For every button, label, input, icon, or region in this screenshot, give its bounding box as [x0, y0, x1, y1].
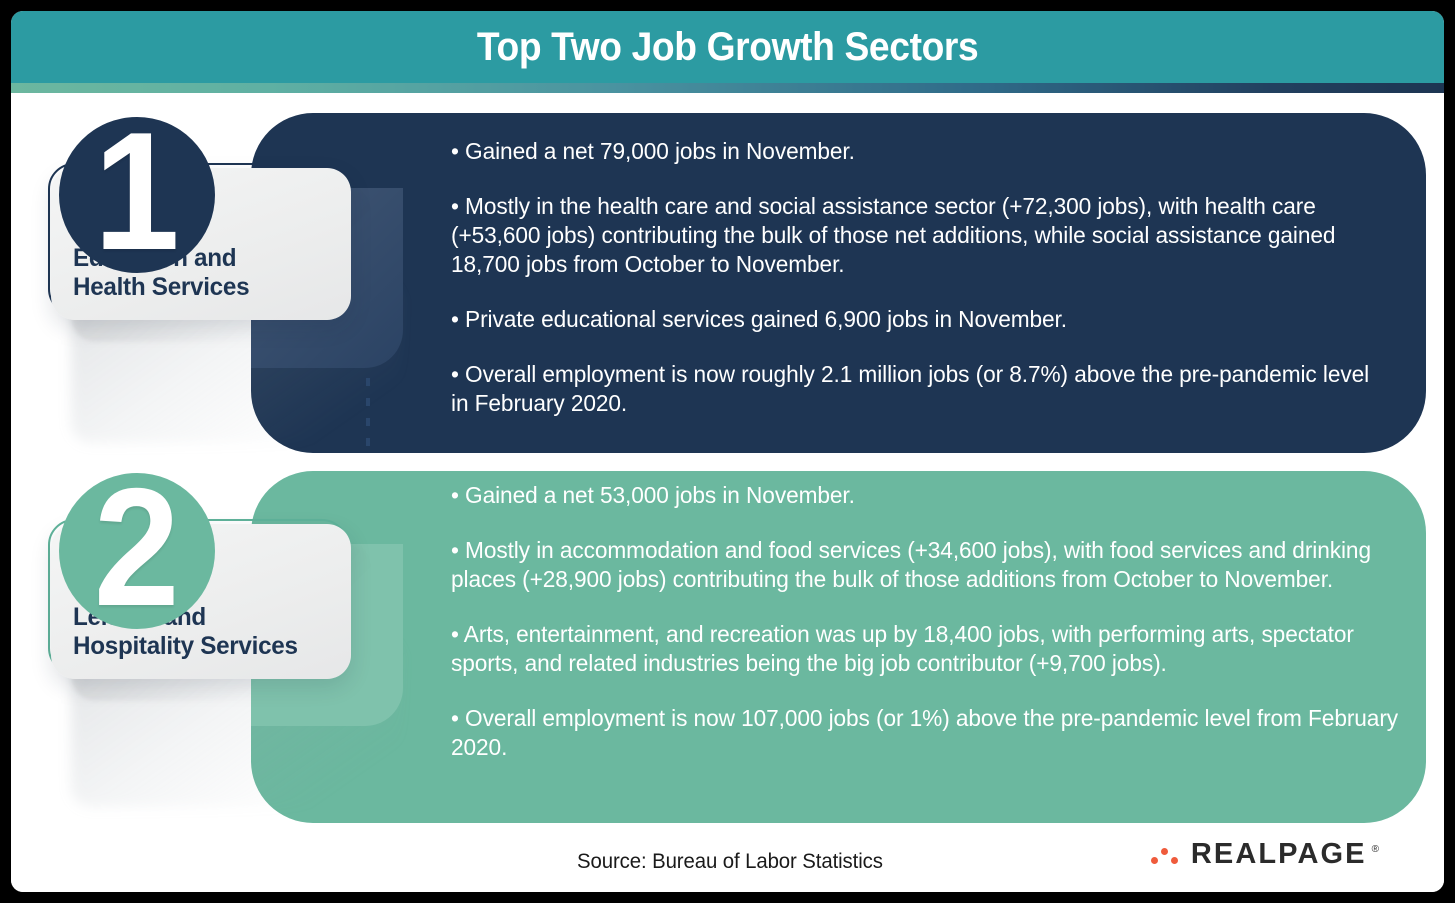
sector-card-2: 2 Leisure and Hospitality Services • Gai… [11, 451, 1444, 826]
sector-2-rank-badge: 2 [59, 473, 215, 629]
page-title: Top Two Job Growth Sectors [477, 25, 978, 70]
header-gradient-strip [11, 83, 1444, 93]
realpage-wordmark: REALPAGE [1191, 838, 1367, 871]
sector-2-bullet: • Arts, entertainment, and recreation wa… [451, 620, 1402, 678]
sector-card-1: 1 Education and Health Services • Gained… [11, 93, 1444, 448]
sector-1-bullet-list: • Gained a net 79,000 jobs in November. … [451, 137, 1377, 418]
sector-2-bullet-list: • Gained a net 53,000 jobs in November. … [451, 481, 1402, 762]
sector-1-rank-badge: 1 [59, 117, 215, 273]
realpage-trademark: ® [1372, 844, 1379, 855]
realpage-logo: REALPAGE ® [1150, 838, 1379, 871]
sector-2-bullet: • Overall employment is now 107,000 jobs… [451, 704, 1402, 762]
sector-2-bullet: • Gained a net 53,000 jobs in November. [451, 481, 1402, 510]
sector-2-rank-number: 2 [94, 463, 180, 631]
sector-1-bullet: • Overall employment is now roughly 2.1 … [451, 360, 1377, 418]
page-surface: Top Two Job Growth Sectors 1 Education a… [11, 11, 1444, 892]
sector-1-bullet: • Gained a net 79,000 jobs in November. [451, 137, 1377, 166]
sector-2-bullet: • Mostly in accommodation and food servi… [451, 536, 1402, 594]
sector-1-rank-number: 1 [94, 107, 180, 275]
footer: Source: Bureau of Labor Statistics REALP… [11, 826, 1444, 892]
realpage-dots-icon [1150, 844, 1182, 866]
header-bar: Top Two Job Growth Sectors [11, 11, 1444, 83]
source-label: Source: Bureau of Labor Statistics [577, 850, 883, 874]
sector-1-bullet: • Private educational services gained 6,… [451, 305, 1377, 334]
sector-1-bullet: • Mostly in the health care and social a… [451, 192, 1377, 279]
infographic-canvas: Top Two Job Growth Sectors 1 Education a… [0, 0, 1455, 903]
